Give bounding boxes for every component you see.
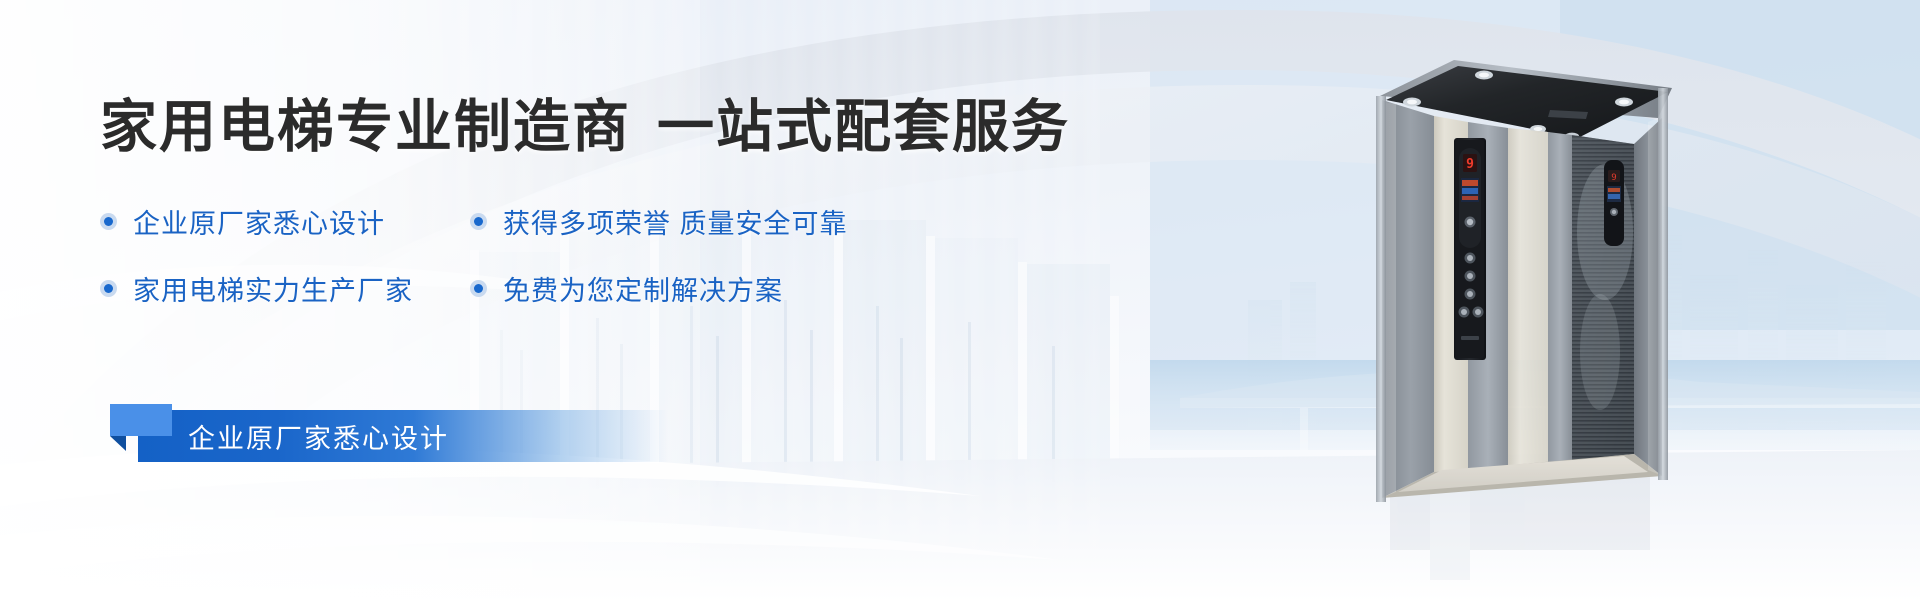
secondary-floor-indicator: 9 (1611, 173, 1616, 183)
banner-content: 家用电梯专业制造商一站式配套服务 企业原厂家悉心设计 获得多项荣誉 质量安全可靠… (100, 96, 1100, 308)
page-title: 家用电梯专业制造商一站式配套服务 (100, 96, 1100, 160)
ribbon-accent-block (110, 404, 172, 436)
feature-item-3: 家用电梯实力生产厂家 (100, 269, 470, 308)
elevator-cabin-illustration: 9 9 (1372, 52, 1672, 502)
hero-banner: 家用电梯专业制造商一站式配套服务 企业原厂家悉心设计 获得多项荣誉 质量安全可靠… (0, 0, 1920, 600)
feature-label: 家用电梯实力生产厂家 (133, 269, 413, 308)
cabin-frame-right (1658, 88, 1668, 480)
bullet-dot-icon (470, 213, 487, 230)
feature-label: 获得多项荣誉 质量安全可靠 (503, 202, 848, 241)
headline-primary: 家用电梯专业制造商 (100, 95, 631, 159)
feature-item-2: 获得多项荣誉 质量安全可靠 (470, 202, 1100, 241)
feature-item-1: 企业原厂家悉心设计 (100, 202, 470, 241)
floor-indicator-display: 9 (1466, 157, 1474, 172)
elevator-product-image: 9 9 (1372, 52, 1672, 502)
feature-item-4: 免费为您定制解决方案 (470, 269, 1100, 308)
ribbon-label: 企业原厂家悉心设计 (188, 410, 449, 462)
ribbon-tag[interactable]: 企业原厂家悉心设计 (110, 404, 670, 462)
headline-secondary: 一站式配套服务 (657, 95, 1070, 159)
panel-nameplate (1461, 336, 1479, 340)
ribbon-fold-icon (110, 436, 126, 451)
feature-list: 企业原厂家悉心设计 获得多项荣誉 质量安全可靠 家用电梯实力生产厂家 免费为您定… (100, 202, 1100, 308)
feature-label: 免费为您定制解决方案 (503, 269, 783, 308)
bullet-dot-icon (100, 280, 117, 297)
bullet-dot-icon (100, 213, 117, 230)
bullet-dot-icon (470, 280, 487, 297)
cabin-frame-left (1376, 96, 1386, 502)
feature-label: 企业原厂家悉心设计 (133, 202, 385, 241)
